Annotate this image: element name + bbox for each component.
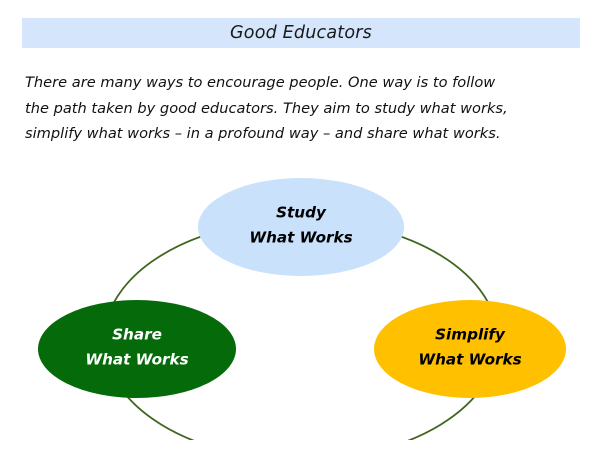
page-title: Good Educators — [230, 23, 372, 43]
node-share-label-line2: What Works — [85, 351, 188, 369]
node-share-shape — [38, 300, 236, 398]
node-simplify-shape — [374, 300, 566, 398]
node-simplify-label-line2: What Works — [418, 351, 521, 369]
body-line-1: There are many ways to encourage people.… — [25, 70, 577, 96]
node-simplify[interactable]: Simplify What Works — [374, 300, 566, 398]
body-paragraph: There are many ways to encourage people.… — [25, 70, 577, 147]
cycle-diagram: Study What Works Share What Works Simpli… — [0, 160, 600, 440]
body-line-2: the path taken by good educators. They a… — [25, 96, 577, 122]
node-study[interactable]: Study What Works — [198, 178, 404, 276]
node-study-label-line2: What Works — [249, 229, 352, 247]
body-line-3: simplify what works – in a profound way … — [25, 121, 577, 147]
slide-canvas: Good Educators There are many ways to en… — [0, 0, 600, 450]
node-study-shape — [198, 178, 404, 276]
node-simplify-label-line1: Simplify — [435, 326, 506, 344]
cycle-diagram-svg: Study What Works Share What Works Simpli… — [0, 160, 600, 440]
node-share[interactable]: Share What Works — [38, 300, 236, 398]
node-study-label-line1: Study — [276, 204, 327, 222]
title-banner: Good Educators — [22, 18, 580, 48]
node-share-label-line1: Share — [112, 326, 162, 344]
